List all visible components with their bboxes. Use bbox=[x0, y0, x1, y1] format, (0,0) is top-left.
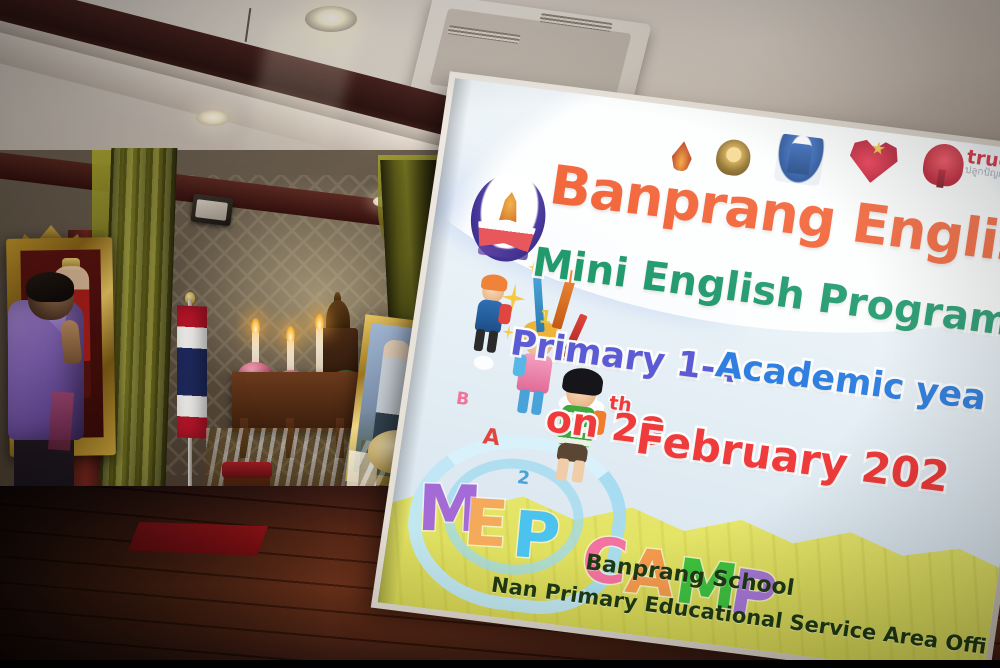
camp-letter-p-2: P bbox=[509, 498, 563, 575]
man-hair bbox=[26, 272, 74, 302]
floor-shadow bbox=[0, 486, 330, 668]
candle-flame bbox=[286, 326, 295, 342]
thai-flag bbox=[177, 305, 207, 439]
candle-flame bbox=[251, 318, 260, 334]
buddhist-emblem-logo bbox=[714, 138, 753, 178]
camp-letter-e-1: E bbox=[461, 486, 510, 562]
man-sash bbox=[48, 391, 74, 450]
banner-academic-year: Academic yea bbox=[713, 345, 989, 419]
kid-hair bbox=[480, 273, 508, 292]
kid-leg bbox=[531, 390, 544, 415]
kid-backpack bbox=[498, 303, 513, 324]
banner-date-ordinal: th bbox=[608, 392, 634, 417]
true-thai-text: ปลูกปัญญา bbox=[964, 165, 1000, 184]
projection-screen: true ปลูกปัญญา bbox=[378, 78, 1000, 668]
cloud-graphic bbox=[473, 355, 495, 371]
kid-leg bbox=[473, 329, 485, 352]
letter-a-graphic: A bbox=[481, 424, 502, 451]
stool-red-cushion bbox=[222, 462, 272, 478]
heart-swan-logo bbox=[846, 136, 900, 186]
letter-b-graphic: B bbox=[455, 389, 471, 410]
ceiling-downlight bbox=[305, 6, 357, 32]
true-logo-wordmark: true ปลูกปัญญา bbox=[964, 149, 1000, 186]
ceiling-downlight bbox=[196, 110, 230, 126]
candle-flame bbox=[315, 314, 324, 330]
screen-surface: true ปลูกปัญญา bbox=[378, 78, 1000, 668]
ministry-crest-shield bbox=[787, 143, 813, 175]
wall-speaker-grille bbox=[195, 199, 228, 221]
kid-leg bbox=[517, 389, 530, 414]
photo-letterbox bbox=[0, 660, 1000, 668]
banner-date-month-year: February 202 bbox=[633, 414, 953, 502]
photograph-scene: true ปลูกปัญญา bbox=[0, 0, 1000, 668]
kid-leg bbox=[486, 330, 498, 353]
